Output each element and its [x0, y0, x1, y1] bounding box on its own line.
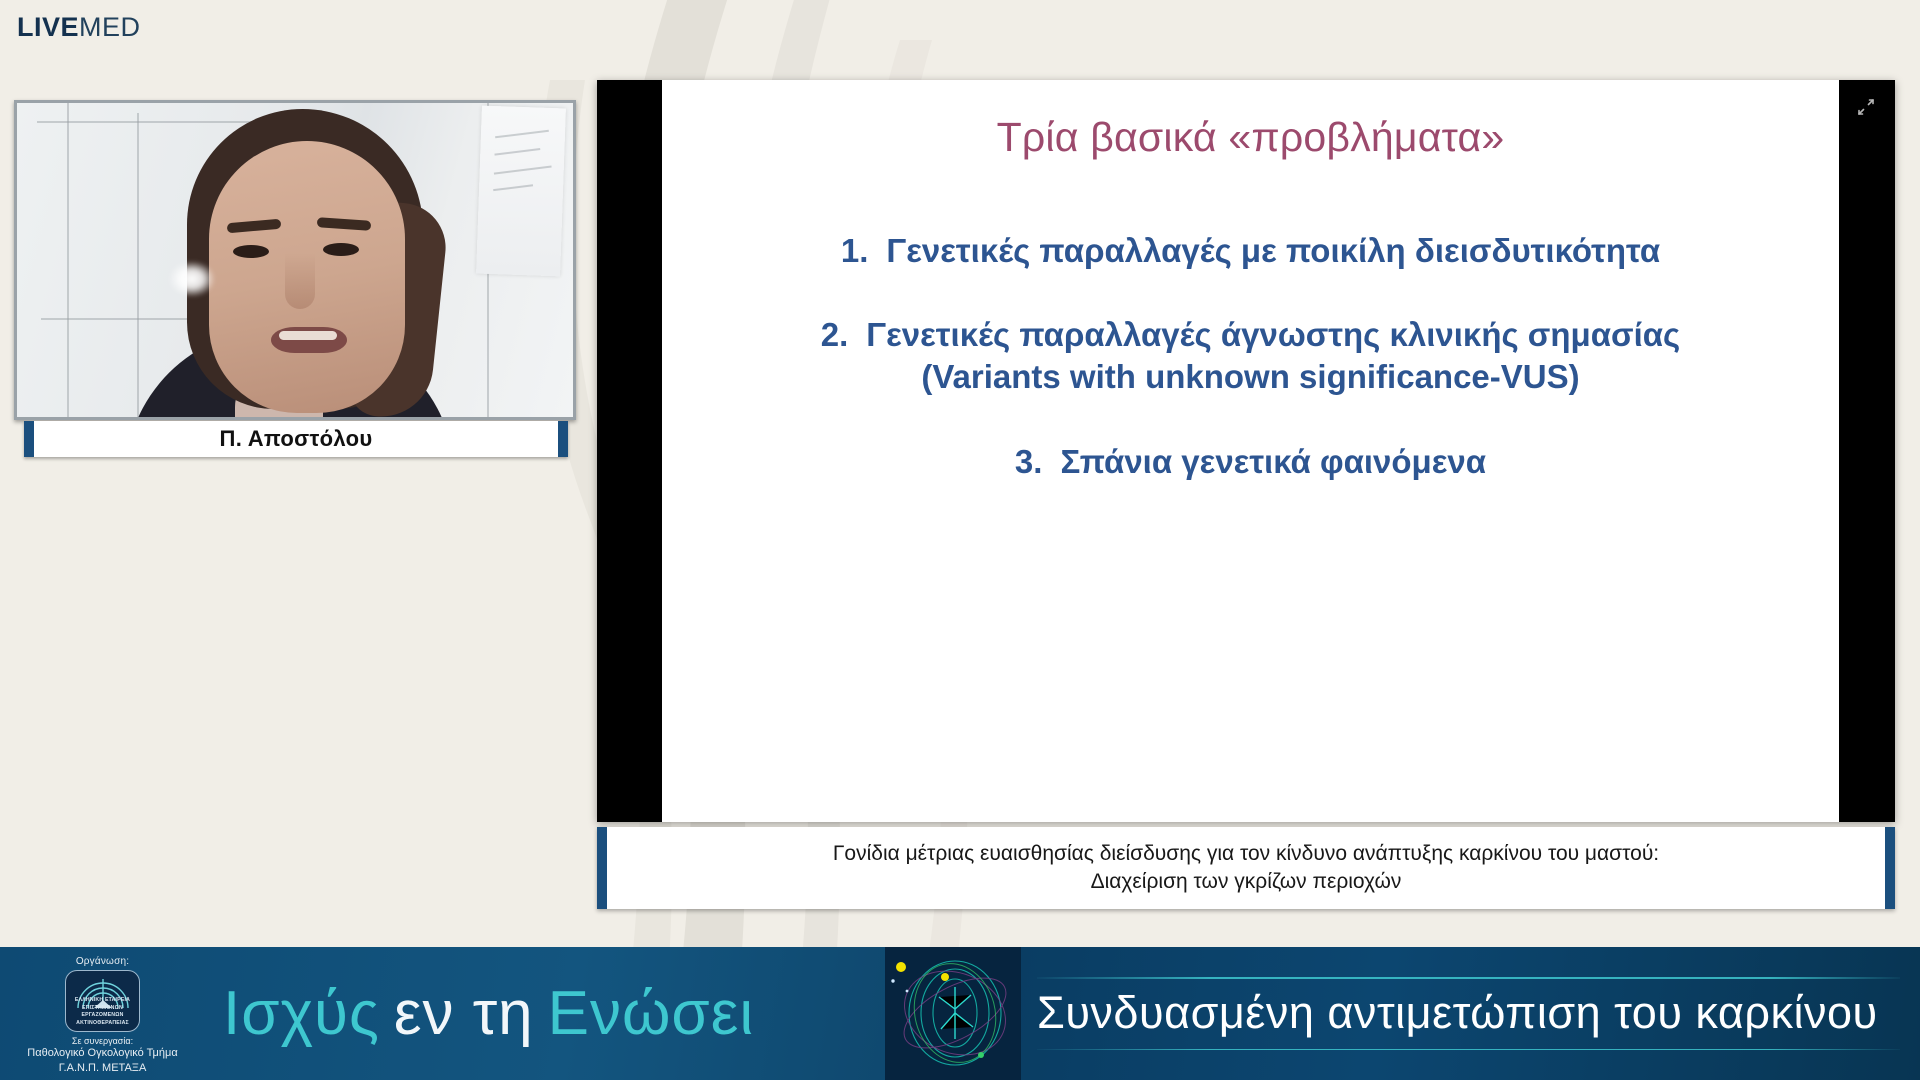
speaker-video-feed[interactable] [17, 103, 573, 417]
banner-organizer-block: Οργάνωση: ΕΛΛΗΝΙΚΗ ΕΤΑΙΡΕΙΑ ΕΠΙΣΤΗΜΟΝΩΝ … [0, 947, 205, 1080]
bullet-number: 2. [821, 316, 849, 353]
slide-player[interactable]: Τρία βασικά «προβλήματα» 1.Γενετικές παρ… [597, 80, 1895, 822]
bullet-subtext: (Variants with unknown significance-VUS) [692, 356, 1809, 398]
bullet-text: Σπάνια γενετικά φαινόμενα [1060, 443, 1486, 480]
slide-title: Τρία βασικά «προβλήματα» [662, 114, 1839, 161]
slide-content: Τρία βασικά «προβλήματα» 1.Γενετικές παρ… [662, 80, 1839, 822]
bullet-number: 1. [841, 232, 869, 269]
banner-orb-graphic [885, 947, 1021, 1080]
video-wall-line-vertical [67, 103, 69, 417]
organizer-logo: ΕΛΛΗΝΙΚΗ ΕΤΑΙΡΕΙΑ ΕΠΙΣΤΗΜΟΝΩΝ ΕΡΓΑΖΟΜΕΝΩ… [65, 970, 140, 1032]
logo-live-text: LIVE [17, 12, 79, 42]
expand-fullscreen-icon[interactable] [1857, 98, 1875, 116]
bullet-number: 3. [1015, 443, 1043, 480]
video-paper-sheet [476, 106, 566, 277]
list-item: 3.Σπάνια γενετικά φαινόμενα [662, 441, 1839, 483]
banner-title-text: Συνδυασμένη αντιμετώπιση του καρκίνου [1037, 979, 1900, 1049]
speaker-eye-right [323, 243, 359, 256]
slogan-part-1: Ισχύς [223, 978, 380, 1049]
slogan-part-3: Ενώσει [548, 978, 754, 1049]
caption-line-1: Γονίδια μέτριας ευαισθησίας διείσδυσης γ… [833, 840, 1659, 868]
video-wall-line-vertical-2 [137, 113, 139, 417]
cooperation-line-1: Παθολογικό Ογκολογικό Τμήμα [27, 1046, 177, 1060]
speaker-eye-left [233, 245, 269, 258]
molecule-orb-icon [885, 947, 1021, 1080]
bullet-text: Γενετικές παραλλαγές με ποικίλη διεισδυτ… [886, 232, 1660, 269]
session-caption-bar: Γονίδια μέτριας ευαισθησίας διείσδυσης γ… [597, 827, 1895, 909]
slogan-part-2: εν τη [394, 978, 534, 1049]
speaker-name-inner: Π. Αποστόλου [24, 421, 568, 457]
event-banner: Οργάνωση: ΕΛΛΗΝΙΚΗ ΕΤΑΙΡΕΙΑ ΕΠΙΣΤΗΜΟΝΩΝ … [0, 947, 1920, 1080]
caption-line-2: Διαχείριση των γκρίζων περιοχών [1091, 868, 1402, 896]
cooperation-label: Σε συνεργασία: [72, 1036, 133, 1046]
logo-med-text: MED [79, 12, 141, 42]
video-light-glare [169, 261, 215, 297]
organizer-logo-line-3: ΑΚΤΙΝΟΘΕΡΑΠΕΙΑΣ [66, 1020, 139, 1028]
speaker-name-text: Π. Αποστόλου [220, 426, 373, 452]
speaker-teeth [279, 331, 337, 340]
banner-divider-bottom [1037, 1049, 1900, 1050]
list-item: 1.Γενετικές παραλλαγές με ποικίλη διεισδ… [662, 230, 1839, 272]
banner-slogan: Ισχύς εν τη Ενώσει [205, 947, 885, 1080]
slide-bullet-list: 1.Γενετικές παραλλαγές με ποικίλη διεισδ… [662, 230, 1839, 525]
speaker-video-panel[interactable] [14, 100, 576, 420]
cooperation-line-2: Γ.Α.Ν.Π. ΜΕΤΑΞΑ [59, 1061, 147, 1075]
bullet-text: Γενετικές παραλλαγές άγνωστης κλινικής σ… [866, 316, 1680, 353]
organizer-label: Οργάνωση: [76, 956, 129, 967]
organizer-logo-line-2: ΕΠΙΣΤΗΜΟΝΩΝ ΕΡΓΑΖΟΜΕΝΩΝ [66, 1005, 139, 1020]
banner-title-block: Συνδυασμένη αντιμετώπιση του καρκίνου [1021, 947, 1920, 1080]
session-caption-inner: Γονίδια μέτριας ευαισθησίας διείσδυσης γ… [597, 827, 1895, 909]
livemed-logo[interactable]: LIVEMED [17, 14, 141, 41]
list-item: 2.Γενετικές παραλλαγές άγνωστης κλινικής… [662, 314, 1839, 398]
video-wall-line-top [37, 121, 257, 123]
speaker-nose [285, 253, 315, 309]
organizer-logo-text: ΕΛΛΗΝΙΚΗ ΕΤΑΙΡΕΙΑ ΕΠΙΣΤΗΜΟΝΩΝ ΕΡΓΑΖΟΜΕΝΩ… [66, 997, 139, 1027]
organizer-logo-line-1: ΕΛΛΗΝΙΚΗ ΕΤΑΙΡΕΙΑ [66, 997, 139, 1005]
speaker-name-bar: Π. Αποστόλου [24, 421, 568, 457]
